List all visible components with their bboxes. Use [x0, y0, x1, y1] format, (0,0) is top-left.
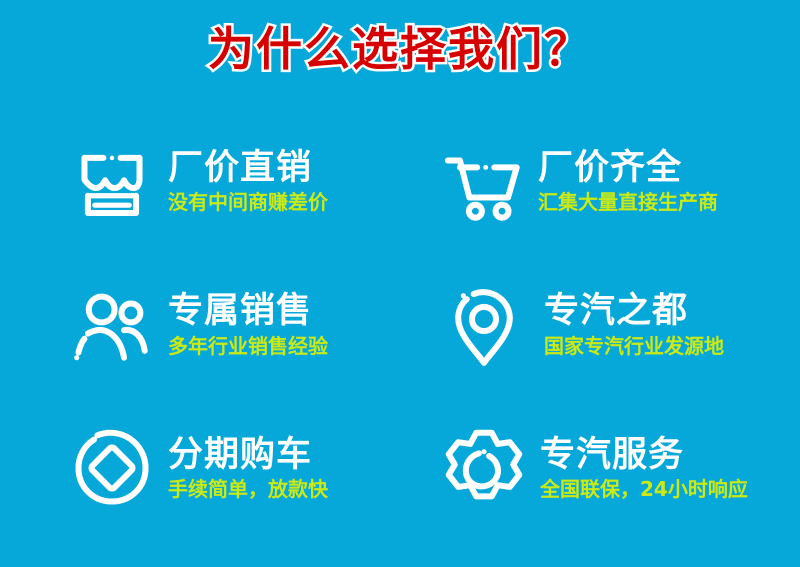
- feature-item-zhuan-qi-zhi-du[interactable]: 专汽之都 国家专汽行业发源地: [400, 253, 800, 396]
- headline-container: 为什么选择我们？: [0, 24, 800, 75]
- feature-text-group: 厂价齐全 汇集大量直接生产商: [538, 149, 718, 214]
- two-people-icon: [66, 279, 158, 371]
- map-pin-icon: [438, 279, 530, 371]
- feature-text-group: 专属销售 多年行业销售经验: [168, 292, 328, 357]
- feature-title: 专属销售: [168, 292, 328, 331]
- feature-item-zhuan-qi-fu-wu[interactable]: 专汽服务 全国联保，24小时响应: [400, 397, 800, 540]
- feature-title: 分期购车: [168, 436, 328, 475]
- shopping-cart-icon: [438, 136, 530, 228]
- feature-item-zhuan-shu-xiao-shou[interactable]: 专属销售 多年行业销售经验: [0, 253, 400, 396]
- feature-title: 厂价齐全: [538, 149, 718, 188]
- feature-subtitle: 汇集大量直接生产商: [538, 191, 718, 214]
- feature-subtitle: 国家专汽行业发源地: [544, 335, 724, 358]
- feature-item-fen-qi-gou-che[interactable]: 分期购车 手续简单，放款快: [0, 397, 400, 540]
- feature-text-group: 专汽之都 国家专汽行业发源地: [544, 292, 724, 357]
- feature-subtitle: 没有中间商赚差价: [168, 191, 328, 214]
- feature-grid: 厂价直销 没有中间商赚差价 厂价齐全 汇集大量直接生产商: [0, 110, 800, 540]
- feature-title: 厂价直销: [168, 149, 328, 188]
- feature-item-chang-jia-zhi-xiao[interactable]: 厂价直销 没有中间商赚差价: [0, 110, 400, 253]
- storefront-icon: [66, 136, 158, 228]
- feature-title: 专汽之都: [544, 292, 724, 331]
- feature-item-chang-jia-qi-quan[interactable]: 厂价齐全 汇集大量直接生产商: [400, 110, 800, 253]
- feature-subtitle: 多年行业销售经验: [168, 335, 328, 358]
- feature-subtitle: 全国联保，24小时响应: [540, 478, 748, 501]
- promo-poster: 为什么选择我们？ 厂价直销 没有中间商赚差价: [0, 0, 800, 567]
- feature-text-group: 专汽服务 全国联保，24小时响应: [540, 436, 748, 501]
- feature-text-group: 分期购车 手续简单，放款快: [168, 436, 328, 501]
- feature-title: 专汽服务: [540, 436, 748, 475]
- page-title: 为什么选择我们？: [208, 24, 592, 75]
- feature-subtitle: 手续简单，放款快: [168, 478, 328, 501]
- gear-icon: [438, 422, 530, 514]
- circle-diamond-icon: [66, 422, 158, 514]
- feature-text-group: 厂价直销 没有中间商赚差价: [168, 149, 328, 214]
